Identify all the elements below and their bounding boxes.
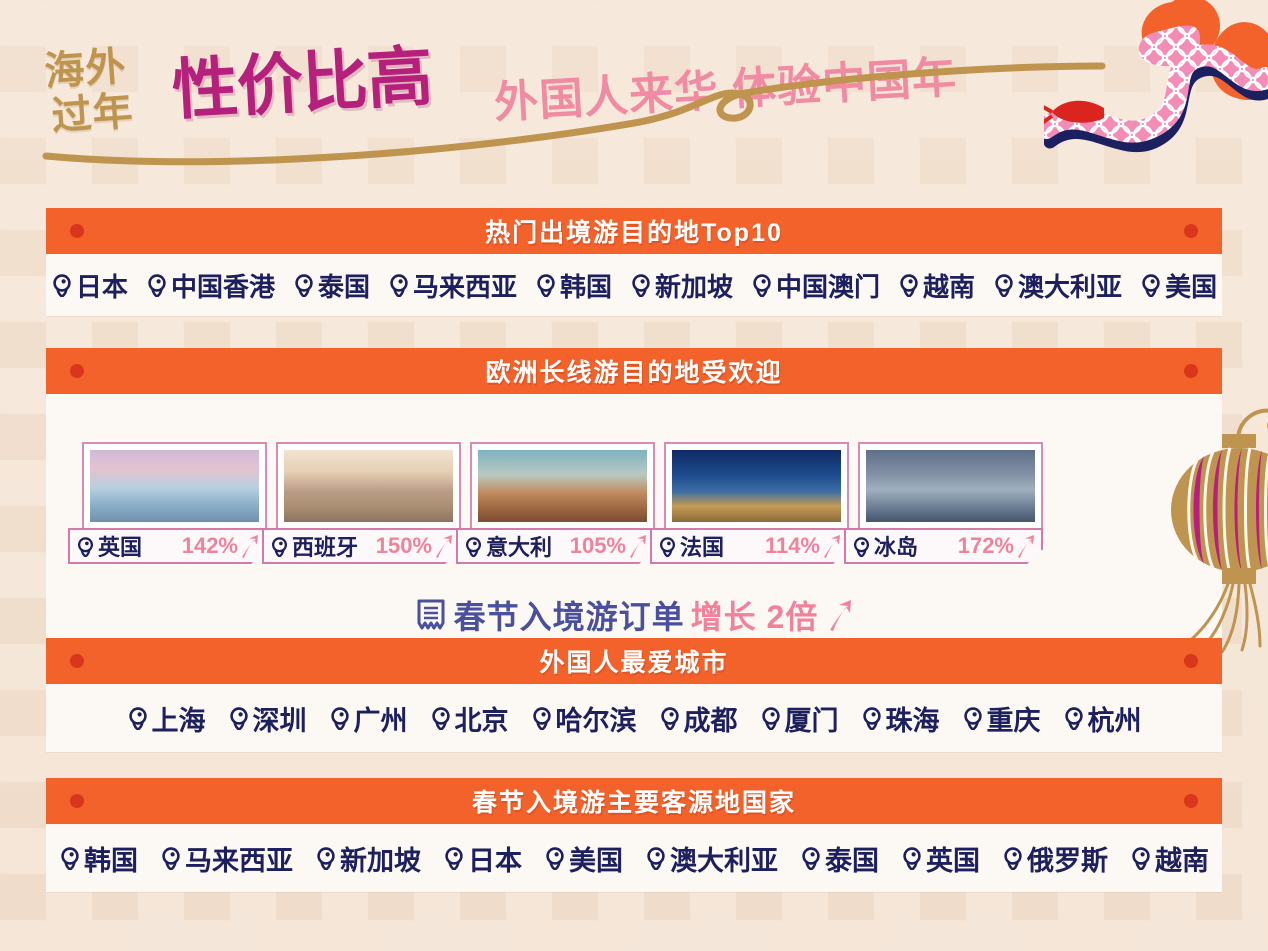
location-pin-icon <box>160 846 182 870</box>
card-country-name: 英国 <box>98 530 142 562</box>
section-hot-outbound: 热门出境游目的地Top10 日本 中国香港 泰国 马来西亚 韩国 新加坡 中国澳… <box>46 208 1222 316</box>
list-item[interactable]: 重庆 <box>962 699 1041 738</box>
location-pin-icon <box>270 536 289 557</box>
section-header-band: 欧洲长线游目的地受欢迎 <box>46 348 1222 394</box>
lantern-icon <box>1164 400 1268 655</box>
inbound-note-prefix: 春节入境游订单 <box>454 592 685 638</box>
card-label: 英国 142% <box>68 528 267 564</box>
card-label: 西班牙 150% <box>262 528 461 564</box>
list-item[interactable]: 美国 <box>1140 267 1217 304</box>
location-pin-icon <box>1130 846 1152 870</box>
destination-card[interactable]: 冰岛 172% <box>858 442 1043 550</box>
list-item-label: 北京 <box>455 699 509 738</box>
list-item[interactable]: 哈尔滨 <box>531 699 637 738</box>
list-item[interactable]: 北京 <box>430 699 509 738</box>
location-pin-icon <box>59 846 81 870</box>
section-favorite-cities: 外国人最爱城市 上海 深圳 广州 北京 哈尔滨 成都 厦门 珠海 重庆 杭州 <box>46 638 1222 752</box>
card-growth-pct: 114% <box>765 533 841 559</box>
inbound-growth-note: 春节入境游订单 增长 2倍 <box>46 592 1222 638</box>
section-europe-longhaul: 欧洲长线游目的地受欢迎 英国 142% 西班牙 150% <box>46 348 1222 654</box>
list-item[interactable]: 俄罗斯 <box>1002 839 1108 878</box>
list-item[interactable]: 日本 <box>51 267 128 304</box>
section-header-band: 春节入境游主要客源地国家 <box>46 778 1222 824</box>
list-item[interactable]: 厦门 <box>760 699 839 738</box>
source-country-list: 韩国 马来西亚 新加坡 日本 美国 澳大利亚 泰国 英国 俄罗斯 越南 <box>46 824 1222 892</box>
location-pin-icon <box>443 846 465 870</box>
destination-card[interactable]: 意大利 105% <box>470 442 655 550</box>
page-title: 性价比高 <box>170 39 434 127</box>
section-panel: 上海 深圳 广州 北京 哈尔滨 成都 厦门 珠海 重庆 杭州 <box>46 684 1222 752</box>
list-item[interactable]: 韩国 <box>535 267 612 304</box>
location-pin-icon <box>898 273 920 297</box>
location-pin-icon <box>760 706 782 730</box>
section-panel: 英国 142% 西班牙 150% <box>46 394 1222 654</box>
location-pin-icon <box>544 846 566 870</box>
up-arrow-icon <box>627 534 647 558</box>
list-item-label: 泰国 <box>825 839 879 878</box>
header-kicker: 海外 过年 <box>43 42 169 140</box>
list-item-label: 成都 <box>684 699 738 738</box>
location-pin-icon <box>751 273 773 297</box>
card-label: 意大利 105% <box>456 528 655 564</box>
location-pin-icon <box>535 273 557 297</box>
receipt-icon <box>414 598 448 632</box>
card-label: 冰岛 172% <box>844 528 1043 564</box>
band-dot-left <box>70 794 84 808</box>
section-title: 热门出境游目的地Top10 <box>485 213 783 249</box>
list-item[interactable]: 新加坡 <box>630 267 733 304</box>
location-pin-icon <box>76 536 95 557</box>
location-pin-icon <box>630 273 652 297</box>
list-item-label: 深圳 <box>253 699 307 738</box>
section-panel: 韩国 马来西亚 新加坡 日本 美国 澳大利亚 泰国 英国 俄罗斯 越南 <box>46 824 1222 892</box>
list-item[interactable]: 马来西亚 <box>160 839 293 878</box>
list-item[interactable]: 韩国 <box>59 839 138 878</box>
list-item-label: 日本 <box>468 839 522 878</box>
location-pin-icon <box>329 706 351 730</box>
card-country-name: 意大利 <box>486 530 552 562</box>
location-pin-icon <box>51 273 73 297</box>
up-arrow-icon <box>433 534 453 558</box>
location-pin-icon <box>127 706 149 730</box>
list-item[interactable]: 中国香港 <box>146 267 275 304</box>
list-item-label: 上海 <box>152 699 206 738</box>
list-item[interactable]: 越南 <box>1130 839 1209 878</box>
list-item[interactable]: 新加坡 <box>315 839 421 878</box>
list-item-label: 杭州 <box>1088 699 1142 738</box>
section-header-band: 外国人最爱城市 <box>46 638 1222 684</box>
list-item-label: 澳大利亚 <box>670 839 778 878</box>
list-item-label: 越南 <box>1155 839 1209 878</box>
list-item-label: 珠海 <box>886 699 940 738</box>
list-item[interactable]: 美国 <box>544 839 623 878</box>
section-header-band: 热门出境游目的地Top10 <box>46 208 1222 254</box>
inbound-note-highlight: 增长 2倍 <box>691 592 819 638</box>
list-item[interactable]: 澳大利亚 <box>645 839 778 878</box>
location-pin-icon <box>658 536 677 557</box>
card-growth-pct: 172% <box>958 533 1035 559</box>
list-item[interactable]: 马来西亚 <box>388 267 517 304</box>
band-dot-left <box>70 364 84 378</box>
location-pin-icon <box>315 846 337 870</box>
band-dot-right <box>1184 794 1198 808</box>
list-item[interactable]: 中国澳门 <box>751 267 880 304</box>
section-inbound-source-countries: 春节入境游主要客源地国家 韩国 马来西亚 新加坡 日本 美国 澳大利亚 泰国 英… <box>46 778 1222 892</box>
card-growth-pct: 142% <box>182 533 259 559</box>
band-dot-right <box>1184 654 1198 668</box>
up-arrow-icon <box>821 534 841 558</box>
header-kicker-line2: 过年 <box>50 87 169 140</box>
list-item[interactable]: 广州 <box>329 699 408 738</box>
section-panel: 日本 中国香港 泰国 马来西亚 韩国 新加坡 中国澳门 越南 澳大利亚 美国 <box>46 254 1222 316</box>
list-item-label: 韩国 <box>84 839 138 878</box>
card-country-name: 法国 <box>680 530 724 562</box>
list-item-label: 马来西亚 <box>413 267 517 304</box>
list-item-label: 新加坡 <box>655 267 733 304</box>
up-arrow-icon <box>1015 534 1035 558</box>
location-pin-icon <box>861 706 883 730</box>
card-label: 法国 114% <box>650 528 849 564</box>
list-item-label: 马来西亚 <box>185 839 293 878</box>
location-pin-icon <box>388 273 410 297</box>
location-pin-icon <box>659 706 681 730</box>
list-item[interactable]: 上海 <box>127 699 206 738</box>
band-dot-left <box>70 654 84 668</box>
list-item[interactable]: 深圳 <box>228 699 307 738</box>
location-pin-icon <box>1063 706 1085 730</box>
section-title: 春节入境游主要客源地国家 <box>472 783 796 819</box>
card-growth-pct: 150% <box>376 533 453 559</box>
location-pin-icon <box>293 273 315 297</box>
list-item-label: 美国 <box>569 839 623 878</box>
destination-list: 日本 中国香港 泰国 马来西亚 韩国 新加坡 中国澳门 越南 澳大利亚 美国 <box>46 254 1222 316</box>
destination-card-list: 英国 142% 西班牙 150% <box>46 394 1222 550</box>
list-item-label: 中国香港 <box>171 267 275 304</box>
destination-card[interactable]: 法国 114% <box>664 442 849 550</box>
list-item[interactable]: 杭州 <box>1063 699 1142 738</box>
list-item-label: 广州 <box>354 699 408 738</box>
card-country-name: 冰岛 <box>874 530 918 562</box>
card-growth-pct: 105% <box>570 533 647 559</box>
list-item-label: 越南 <box>923 267 975 304</box>
list-item-label: 英国 <box>926 839 980 878</box>
location-pin-icon <box>1002 846 1024 870</box>
tower-bridge-london-photo <box>90 450 259 522</box>
list-item-label: 厦门 <box>785 699 839 738</box>
section-title: 欧洲长线游目的地受欢迎 <box>485 353 782 389</box>
list-item-label: 中国澳门 <box>776 267 880 304</box>
list-item-label: 重庆 <box>987 699 1041 738</box>
location-pin-icon <box>531 706 553 730</box>
florence-duomo-photo <box>478 450 647 522</box>
list-item[interactable]: 日本 <box>443 839 522 878</box>
iceland-fjord-photo <box>866 450 1035 522</box>
band-dot-right <box>1184 364 1198 378</box>
location-pin-icon <box>1140 273 1162 297</box>
sagrada-familia-barcelona-photo <box>284 450 453 522</box>
up-arrow-icon <box>824 598 854 632</box>
destination-card[interactable]: 英国 142% <box>82 442 267 550</box>
list-item-label: 哈尔滨 <box>556 699 637 738</box>
location-pin-icon <box>962 706 984 730</box>
snake-icon <box>1044 0 1268 192</box>
list-item[interactable]: 泰国 <box>293 267 370 304</box>
location-pin-icon <box>993 273 1015 297</box>
location-pin-icon <box>146 273 168 297</box>
list-item-label: 日本 <box>76 267 128 304</box>
location-pin-icon <box>228 706 250 730</box>
city-list: 上海 深圳 广州 北京 哈尔滨 成都 厦门 珠海 重庆 杭州 <box>46 684 1222 752</box>
louvre-pyramid-paris-photo <box>672 450 841 522</box>
location-pin-icon <box>901 846 923 870</box>
location-pin-icon <box>464 536 483 557</box>
location-pin-icon <box>800 846 822 870</box>
band-dot-right <box>1184 224 1198 238</box>
list-item[interactable]: 珠海 <box>861 699 940 738</box>
band-dot-left <box>70 224 84 238</box>
list-item[interactable]: 泰国 <box>800 839 879 878</box>
section-title: 外国人最爱城市 <box>539 643 728 679</box>
list-item-label: 美国 <box>1165 267 1217 304</box>
page-subtitle: 外国人来华 体验中国年 <box>493 53 958 129</box>
list-item[interactable]: 澳大利亚 <box>993 267 1122 304</box>
list-item-label: 澳大利亚 <box>1018 267 1122 304</box>
list-item-label: 新加坡 <box>340 839 421 878</box>
up-arrow-icon <box>239 534 259 558</box>
header: 海外 过年 性价比高 外国人来华 体验中国年 <box>0 0 1268 200</box>
list-item-label: 韩国 <box>560 267 612 304</box>
list-item-label: 俄罗斯 <box>1027 839 1108 878</box>
location-pin-icon <box>430 706 452 730</box>
list-item[interactable]: 越南 <box>898 267 975 304</box>
destination-card[interactable]: 西班牙 150% <box>276 442 461 550</box>
location-pin-icon <box>645 846 667 870</box>
list-item[interactable]: 英国 <box>901 839 980 878</box>
card-country-name: 西班牙 <box>292 530 358 562</box>
list-item[interactable]: 成都 <box>659 699 738 738</box>
list-item-label: 泰国 <box>318 267 370 304</box>
location-pin-icon <box>852 536 871 557</box>
